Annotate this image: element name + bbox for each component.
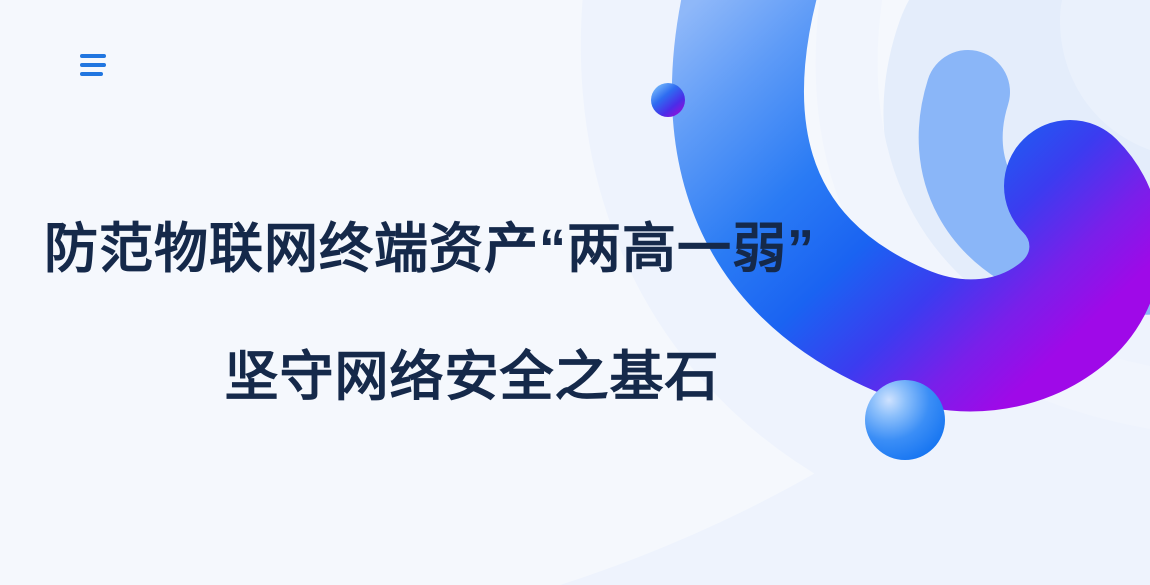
slide-title-line-2: 坚守网络安全之基石 (0, 350, 900, 404)
hamburger-menu-icon[interactable] (80, 48, 116, 82)
menu-bar-top (80, 54, 106, 58)
light-blue-inner-arc (961, 92, 1150, 273)
presentation-slide: 防范物联网终端资产“两高一弱” 坚守网络安全之基石 (0, 0, 1150, 585)
small-gradient-sphere (651, 83, 685, 117)
pale-wedge-top-right (1060, 0, 1150, 150)
menu-bar-bottom (80, 72, 103, 76)
pale-blue-backdrop-shape (883, 0, 1150, 334)
slide-title-line-1: 防范物联网终端资产“两高一弱” (0, 222, 900, 276)
slide-title: 防范物联网终端资产“两高一弱” 坚守网络安全之基石 (0, 222, 900, 404)
menu-bar-middle (80, 63, 106, 67)
